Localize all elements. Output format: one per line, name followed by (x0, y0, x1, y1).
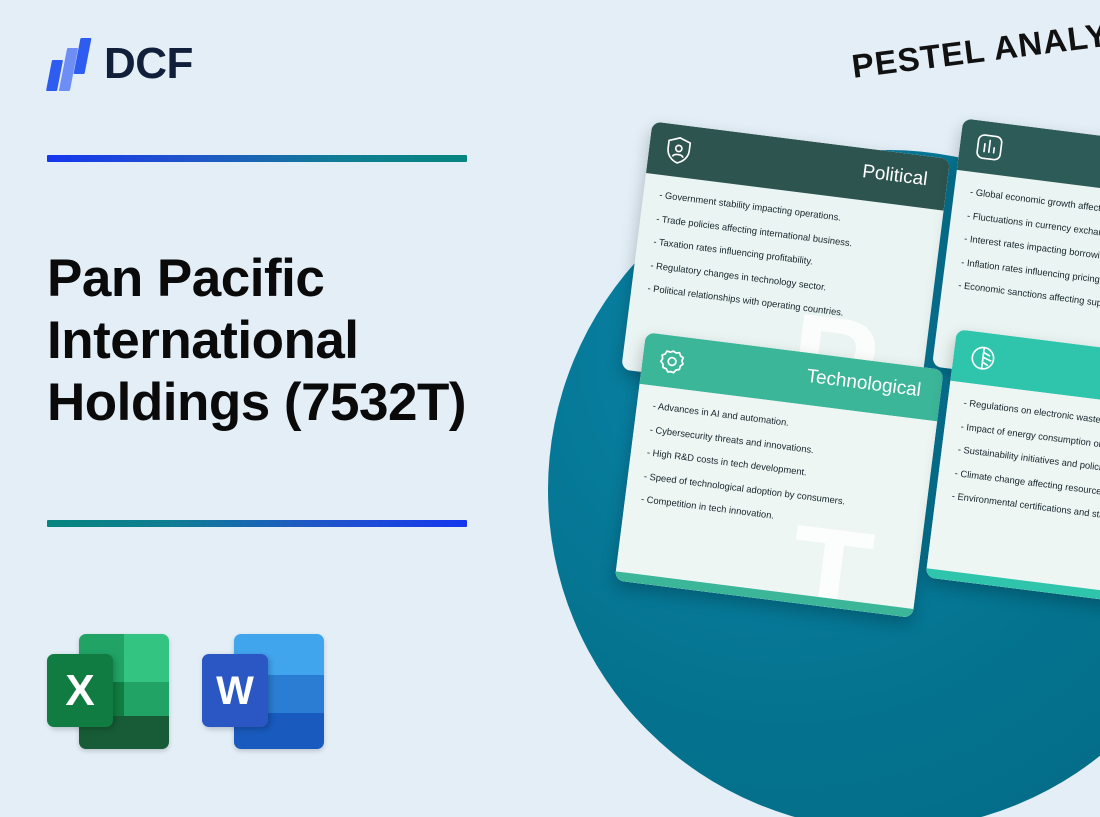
slide-canvas: DCF Pan Pacific International Holdings (… (0, 0, 1100, 817)
brand-name: DCF (104, 42, 193, 86)
word-file-icon[interactable]: W (202, 628, 324, 752)
divider-top (47, 155, 467, 162)
card-title: Political (861, 161, 929, 191)
card-item-list: - Global economic growth affecting marke… (958, 186, 1100, 324)
card-item-list: - Regulations on electronic waste dispos… (951, 397, 1100, 535)
leaf-icon (966, 341, 1001, 376)
excel-icon-letter: X (65, 669, 94, 713)
page-title: Pan Pacific International Holdings (7532… (47, 248, 517, 434)
bar-chart-icon (972, 130, 1007, 165)
file-format-badges: X W (47, 628, 324, 752)
divider-bottom (47, 520, 467, 527)
gear-icon (655, 344, 690, 379)
pestel-panel: PESTEL ANALYSIS Political P (500, 0, 1100, 817)
card-title: Technological (805, 366, 922, 402)
excel-file-icon[interactable]: X (47, 628, 169, 752)
word-icon-letter: W (216, 671, 254, 711)
pestel-card-technological[interactable]: Technological T - Advances in AI and aut… (615, 332, 944, 618)
list-item: - Environmental certifications and stand… (951, 490, 1100, 535)
shield-person-icon (661, 133, 696, 168)
card-item-list: - Government stability impacting operati… (647, 189, 926, 327)
excel-icon-badge: X (47, 654, 113, 727)
card-item-list: - Advances in AI and automation. - Cyber… (640, 400, 919, 538)
pestel-card-environment[interactable]: Environment E - Regulations on electroni… (926, 329, 1100, 615)
dcf-bars-logo-icon (47, 36, 93, 92)
word-icon-badge: W (202, 654, 268, 727)
pestel-card-grid: Political P - Government stability impac… (449, 0, 1100, 817)
brand-logo[interactable]: DCF (47, 36, 193, 92)
list-item: - Economic sanctions affecting supply ch… (958, 279, 1100, 324)
